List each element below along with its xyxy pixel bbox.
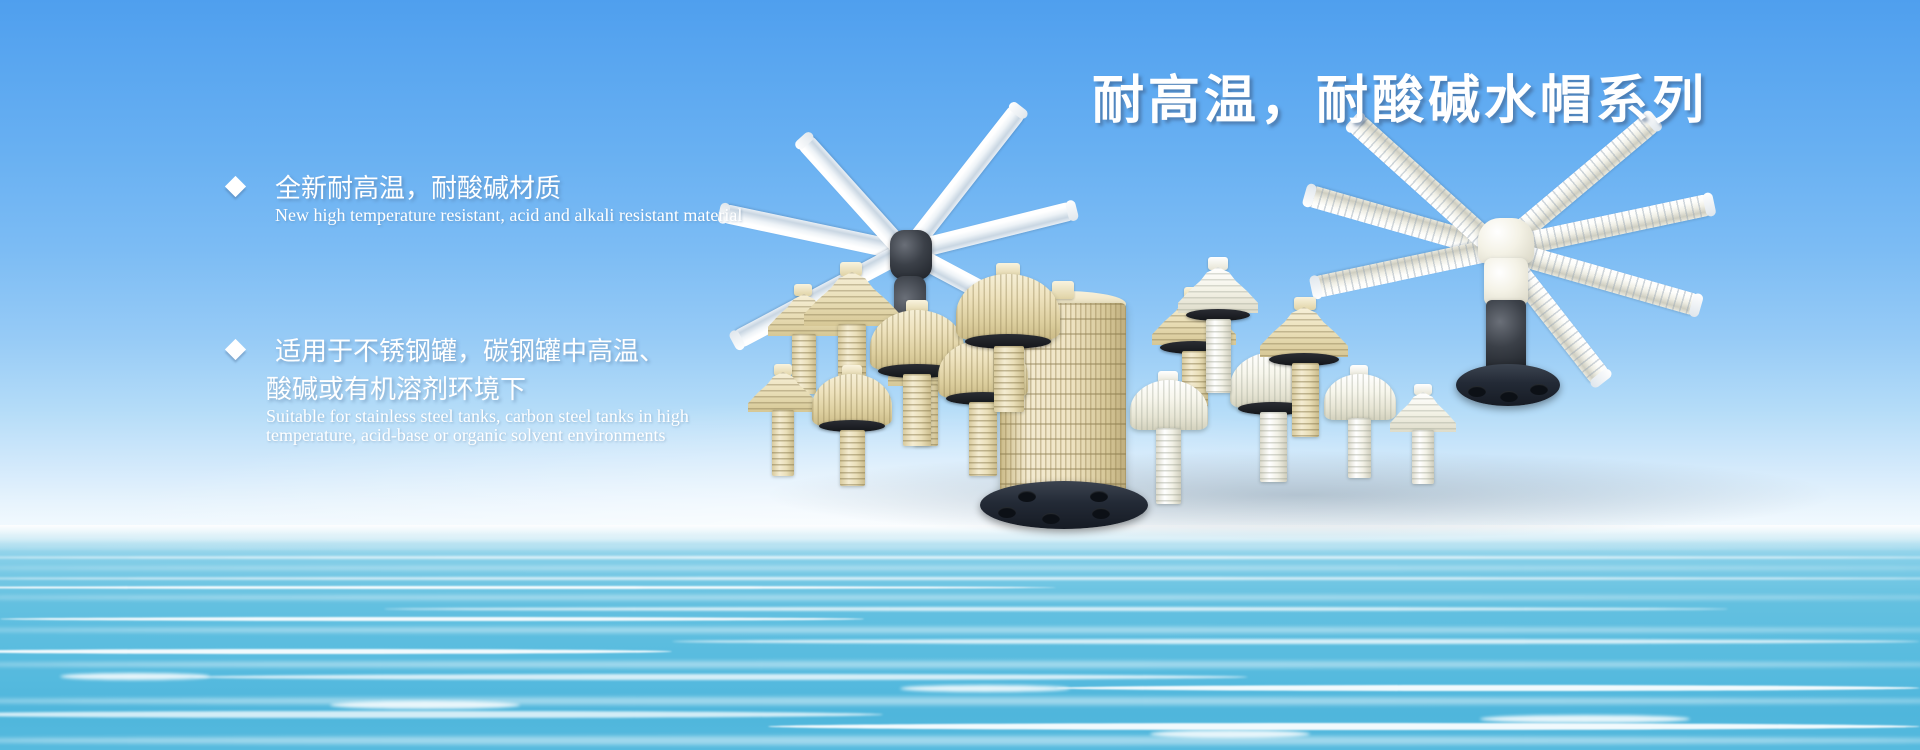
water-ripples xyxy=(0,525,1920,750)
bullet-2-cn-line-1: 适用于不锈钢罐，碳钢罐中高温、 xyxy=(275,333,988,371)
feature-bullet-list: 全新耐高温，耐酸碱材质 New high temperature resista… xyxy=(228,170,988,447)
bullet-1-en-line-1: New high temperature resistant, acid and… xyxy=(275,204,988,227)
feature-bullet-2: 适用于不锈钢罐，碳钢罐中高温、 酸碱或有机溶剂环境下 Suitable for … xyxy=(228,333,988,447)
water-background xyxy=(0,525,1920,750)
page-title: 耐高温，耐酸碱水帽系列 xyxy=(1092,58,1708,133)
diamond-bullet-icon xyxy=(225,176,246,197)
bullet-1-cn-line-1: 全新耐高温，耐酸碱材质 xyxy=(275,170,988,208)
diamond-bullet-icon xyxy=(225,339,246,360)
bullet-2-en-line-2: temperature, acid-base or organic solven… xyxy=(266,424,988,447)
feature-bullet-1: 全新耐高温，耐酸碱材质 New high temperature resista… xyxy=(228,170,988,227)
bullet-2-cn-line-2: 酸碱或有机溶剂环境下 xyxy=(266,371,988,409)
product-banner: 耐高温，耐酸碱水帽系列 全新耐高温，耐酸碱材质 New high tempera… xyxy=(0,0,1920,750)
